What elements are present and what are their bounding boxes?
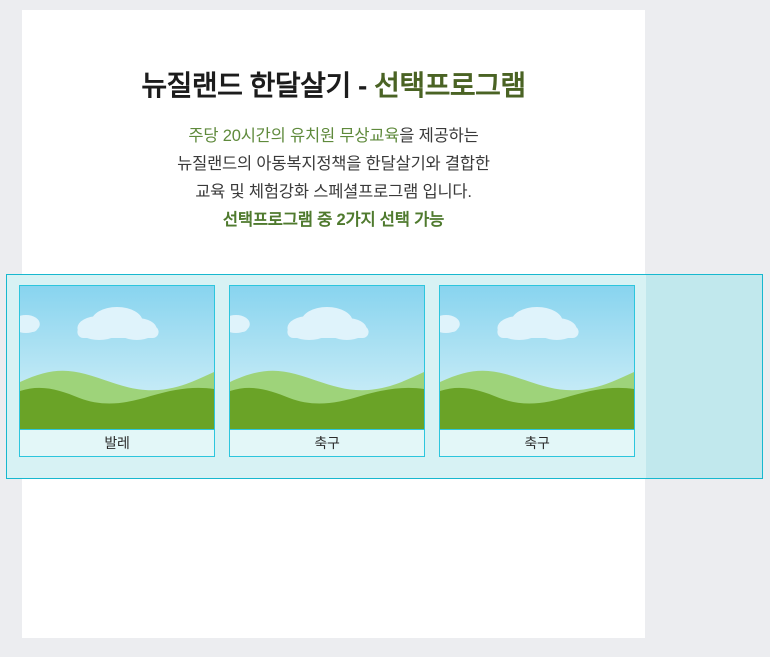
landscape-placeholder-icon — [440, 286, 634, 429]
subtitle-block: 주당 20시간의 유치원 무상교육을 제공하는 뉴질랜드의 아동복지정책을 한달… — [22, 122, 645, 234]
landscape-placeholder-icon — [230, 286, 424, 429]
page-title: 뉴질랜드 한달살기 - 선택프로그램 — [22, 68, 645, 103]
subtitle-line-1-dark: 을 제공하는 — [399, 127, 478, 145]
program-card[interactable]: 축구 — [439, 285, 635, 457]
program-thumbnail — [20, 286, 214, 430]
program-selection-strip[interactable]: 발레 축구 — [6, 274, 763, 479]
program-card-caption: 축구 — [230, 430, 424, 456]
program-thumbnail — [230, 286, 424, 430]
landscape-placeholder-icon — [20, 286, 214, 429]
program-thumbnail — [440, 286, 634, 430]
program-card-row: 발레 축구 — [19, 285, 635, 457]
subtitle-line-1-green: 주당 20시간의 유치원 무상교육 — [188, 127, 399, 145]
program-card[interactable]: 발레 — [19, 285, 215, 457]
subtitle-line-4: 선택프로그램 중 2가지 선택 가능 — [22, 206, 645, 234]
strip-overhang-shade — [646, 275, 762, 478]
subtitle-line-2-dark: 뉴질랜드의 아동복지정책을 한달살기와 결합한 — [177, 155, 490, 173]
program-card-caption: 발레 — [20, 430, 214, 456]
subtitle-line-1: 주당 20시간의 유치원 무상교육을 제공하는 — [22, 122, 645, 150]
subtitle-line-3-dark: 교육 및 체험강화 스페셜프로그램 입니다. — [195, 183, 472, 201]
subtitle-line-2: 뉴질랜드의 아동복지정책을 한달살기와 결합한 — [22, 150, 645, 178]
program-card-caption: 축구 — [440, 430, 634, 456]
page-title-main: 뉴질랜드 한달살기 - — [141, 70, 374, 101]
subtitle-line-3: 교육 및 체험강화 스페셜프로그램 입니다. — [22, 178, 645, 206]
program-card[interactable]: 축구 — [229, 285, 425, 457]
page-title-block: 뉴질랜드 한달살기 - 선택프로그램 — [22, 10, 645, 103]
page-title-accent: 선택프로그램 — [374, 70, 526, 101]
